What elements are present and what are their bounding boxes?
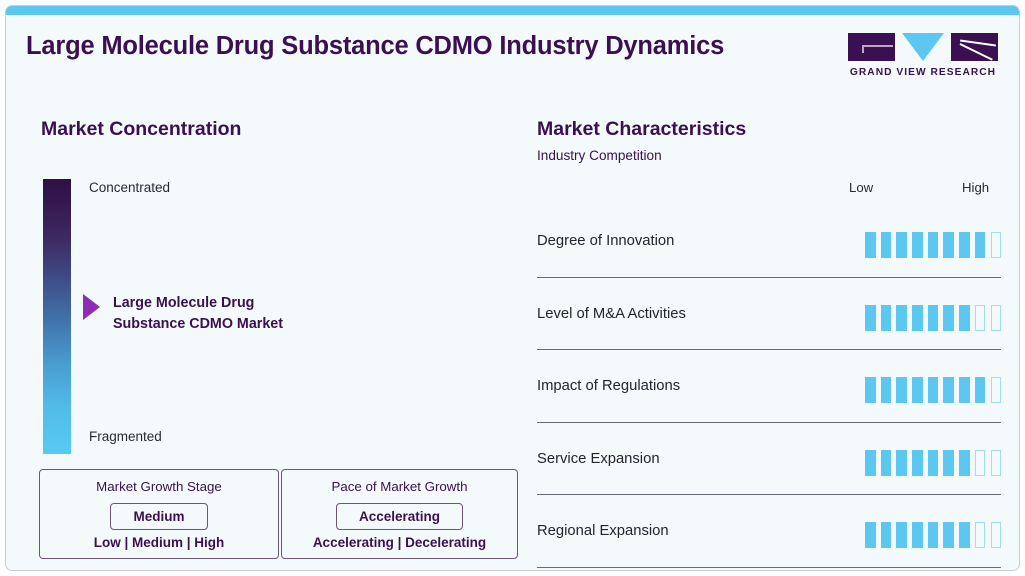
rating-tick-filled [896, 450, 907, 476]
axis-label-low: Low [849, 180, 873, 195]
characteristic-row: Regional Expansion [537, 495, 1001, 568]
rating-tick-filled [975, 377, 986, 403]
rating-tick-filled [943, 522, 954, 548]
rating-tick-filled [928, 232, 939, 258]
market-position-label: Large Molecule Drug Substance CDMO Marke… [113, 293, 283, 335]
characteristic-label: Service Expansion [537, 451, 660, 467]
rating-tick-filled [865, 450, 876, 476]
characteristic-label: Level of M&A Activities [537, 306, 686, 322]
rating-tick-filled [959, 305, 970, 331]
rating-tick-filled [959, 450, 970, 476]
characteristic-rating-scale [865, 232, 1001, 258]
characteristic-rating-scale [865, 305, 1001, 331]
rating-tick-filled [943, 450, 954, 476]
market-concentration-panel: Market Concentration Concentrated Fragme… [6, 87, 518, 571]
logo-marks [848, 31, 998, 63]
rating-tick-filled [881, 305, 892, 331]
scale-label-fragmented: Fragmented [89, 429, 162, 444]
rating-tick-filled [896, 377, 907, 403]
infographic-card: Large Molecule Drug Substance CDMO Indus… [5, 5, 1020, 571]
rating-tick-filled [975, 232, 986, 258]
rating-tick-filled [865, 377, 876, 403]
market-characteristics-panel: Market Characteristics Industry Competit… [518, 87, 1020, 571]
logo-v-triangle-icon [902, 33, 944, 61]
pace-of-market-growth-title: Pace of Market Growth [282, 479, 517, 494]
rating-tick-filled [912, 377, 923, 403]
rating-tick-filled [943, 377, 954, 403]
market-growth-stage-box: Market Growth Stage Medium Low | Medium … [39, 469, 279, 559]
market-position-label-line1: Large Molecule Drug [113, 295, 254, 311]
rating-tick-filled [928, 377, 939, 403]
rating-tick-filled [881, 522, 892, 548]
market-growth-stage-options: Low | Medium | High [40, 535, 278, 550]
rating-tick-filled [865, 305, 876, 331]
pace-of-market-growth-value: Accelerating [336, 503, 463, 530]
rating-tick-empty [975, 522, 986, 548]
rating-tick-filled [896, 522, 907, 548]
rating-tick-filled [881, 377, 892, 403]
rating-tick-filled [865, 232, 876, 258]
rating-tick-filled [912, 232, 923, 258]
rating-tick-empty [991, 305, 1002, 331]
rating-tick-empty [975, 305, 986, 331]
rating-tick-filled [912, 522, 923, 548]
characteristic-row: Degree of Innovation [537, 205, 1001, 278]
page-title: Large Molecule Drug Substance CDMO Indus… [26, 32, 724, 61]
logo-wordmark: GRAND VIEW RESEARCH [848, 67, 998, 78]
rating-tick-empty [991, 522, 1002, 548]
rating-tick-filled [896, 305, 907, 331]
market-concentration-title: Market Concentration [41, 118, 241, 141]
rating-tick-filled [928, 522, 939, 548]
rating-tick-filled [912, 450, 923, 476]
rating-tick-filled [881, 450, 892, 476]
pace-of-market-growth-value-wrap: Accelerating [282, 503, 517, 530]
rating-tick-empty [991, 450, 1002, 476]
rating-tick-filled [943, 232, 954, 258]
rating-tick-filled [928, 305, 939, 331]
rating-tick-empty [991, 232, 1002, 258]
characteristic-rating-scale [865, 522, 1001, 548]
header: Large Molecule Drug Substance CDMO Indus… [6, 15, 1019, 87]
logo-g-block-icon [848, 33, 895, 61]
grand-view-research-logo: GRAND VIEW RESEARCH [848, 31, 998, 83]
market-growth-stage-title: Market Growth Stage [40, 479, 278, 494]
top-accent-bar [6, 6, 1019, 15]
rating-tick-filled [865, 522, 876, 548]
characteristic-row: Impact of Regulations [537, 350, 1001, 423]
rating-tick-filled [959, 522, 970, 548]
rating-tick-filled [959, 377, 970, 403]
concentration-gradient-scale [43, 179, 71, 454]
market-characteristics-subtitle: Industry Competition [537, 148, 662, 163]
characteristic-rating-scale [865, 450, 1001, 476]
rating-tick-filled [881, 232, 892, 258]
characteristic-label: Impact of Regulations [537, 378, 680, 394]
characteristic-label: Degree of Innovation [537, 233, 674, 249]
market-position-arrow-icon [83, 294, 100, 320]
market-growth-stage-value: Medium [110, 503, 207, 530]
characteristic-label: Regional Expansion [537, 523, 669, 539]
pace-of-market-growth-options: Accelerating | Decelerating [282, 535, 517, 550]
rating-tick-filled [959, 232, 970, 258]
axis-label-high: High [962, 180, 989, 195]
market-growth-stage-value-wrap: Medium [40, 503, 278, 530]
rating-tick-empty [991, 377, 1002, 403]
rating-tick-filled [912, 305, 923, 331]
pace-of-market-growth-box: Pace of Market Growth Accelerating Accel… [281, 469, 518, 559]
scale-label-concentrated: Concentrated [89, 180, 170, 195]
rating-tick-filled [896, 232, 907, 258]
characteristic-row: Service Expansion [537, 423, 1001, 496]
rating-tick-filled [943, 305, 954, 331]
characteristic-row: Level of M&A Activities [537, 278, 1001, 351]
market-characteristics-title: Market Characteristics [537, 118, 746, 141]
market-position-label-line2: Substance CDMO Market [113, 316, 283, 332]
characteristic-rating-scale [865, 377, 1001, 403]
logo-r-block-icon [951, 33, 998, 61]
rating-tick-empty [975, 450, 986, 476]
rating-tick-filled [928, 450, 939, 476]
